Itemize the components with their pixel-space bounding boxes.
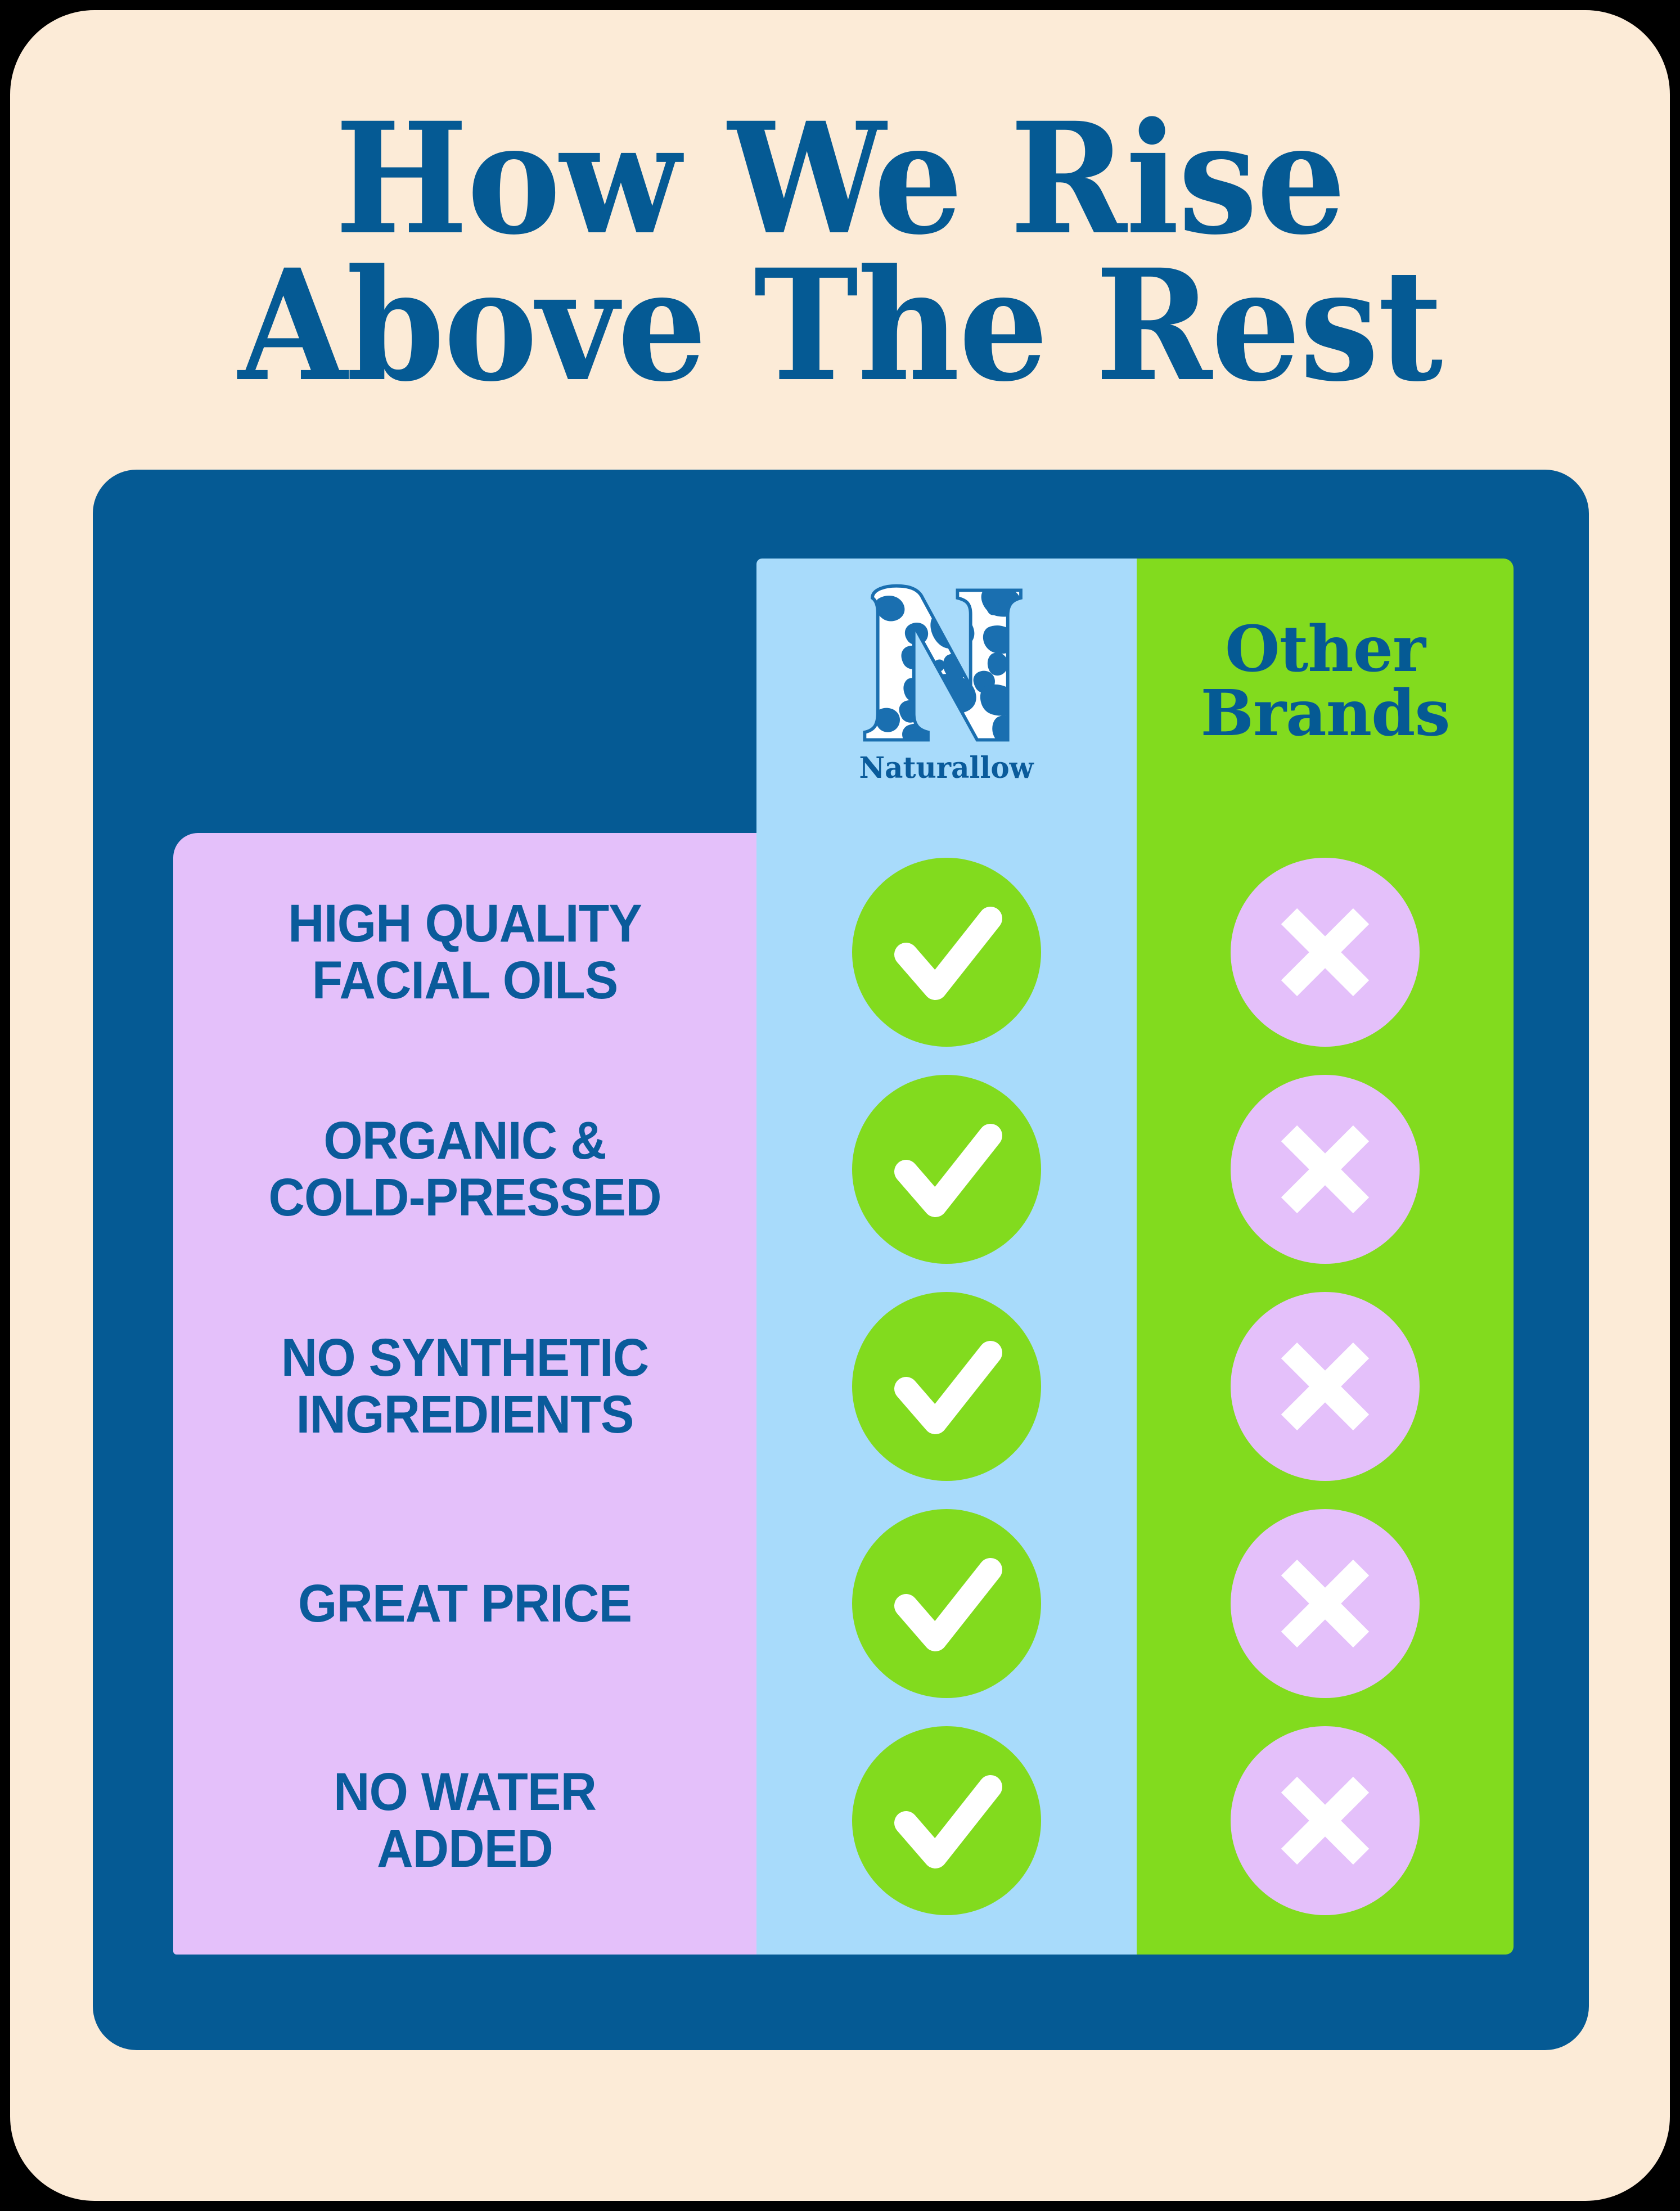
brand-cell <box>756 858 1137 1047</box>
check-icon <box>852 1075 1041 1264</box>
cross-badge <box>1231 1075 1420 1264</box>
check-icon <box>852 1726 1041 1915</box>
table-row: GREAT PRICE <box>173 1511 1514 1696</box>
cross-badge <box>1231 1292 1420 1481</box>
table-row: HIGH QUALITY FACIAL OILS <box>173 859 1514 1045</box>
brand-column-header: Naturallow <box>756 578 1137 814</box>
feature-label: NO WATER ADDED <box>191 1764 739 1877</box>
check-icon <box>852 1292 1041 1481</box>
cross-icon <box>1231 1075 1420 1264</box>
check-badge <box>852 1292 1041 1481</box>
check-badge <box>852 1726 1041 1915</box>
feature-label: ORGANIC & COLD-PRESSED <box>191 1113 739 1226</box>
feature-label: HIGH QUALITY FACIAL OILS <box>191 895 739 1008</box>
cross-icon <box>1231 1726 1420 1915</box>
feature-label: GREAT PRICE <box>191 1575 739 1632</box>
cross-icon <box>1231 858 1420 1047</box>
brand-logo-wordmark: Naturallow <box>859 751 1034 785</box>
cross-badge <box>1231 1726 1420 1915</box>
cross-badge <box>1231 1509 1420 1698</box>
table-row: NO WATER ADDED <box>173 1728 1514 1913</box>
comparison-poster: How We Rise Above The Rest <box>10 10 1670 2201</box>
table-row: NO SYNTHETIC INGREDIENTS <box>173 1294 1514 1479</box>
cross-badge <box>1231 858 1420 1047</box>
brand-cell <box>756 1509 1137 1698</box>
brand-cell <box>756 1726 1137 1915</box>
other-cell <box>1137 1292 1514 1481</box>
check-badge <box>852 1509 1041 1698</box>
cross-icon <box>1231 1509 1420 1698</box>
feature-label: NO SYNTHETIC INGREDIENTS <box>191 1330 739 1443</box>
cow-print-n-logo-icon <box>854 578 1039 750</box>
check-badge <box>852 1075 1041 1264</box>
check-icon <box>852 858 1041 1047</box>
table-row: ORGANIC & COLD-PRESSED <box>173 1077 1514 1262</box>
check-icon <box>852 1509 1041 1698</box>
cross-icon <box>1231 1292 1420 1481</box>
other-cell <box>1137 1509 1514 1698</box>
other-cell <box>1137 1726 1514 1915</box>
brand-cell <box>756 1292 1137 1481</box>
other-cell <box>1137 858 1514 1047</box>
brand-cell <box>756 1075 1137 1264</box>
page-title: How We Rise Above The Rest <box>76 106 1604 399</box>
check-badge <box>852 858 1041 1047</box>
other-brands-column-header: Other Brands <box>1137 618 1514 746</box>
other-cell <box>1137 1075 1514 1264</box>
